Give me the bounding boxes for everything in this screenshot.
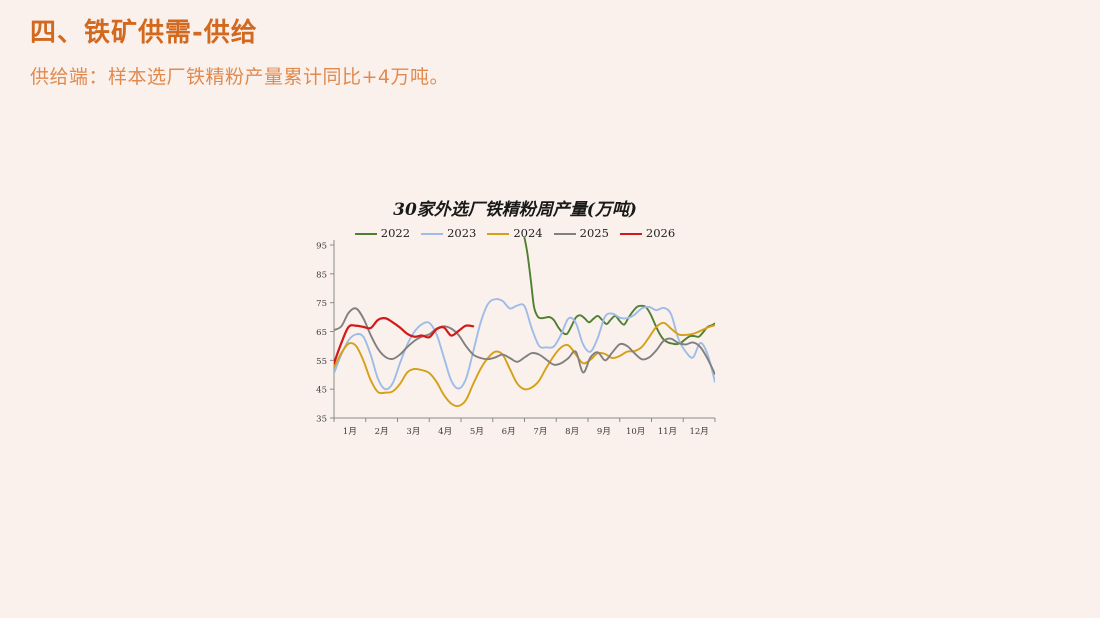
series-line-2026 <box>334 318 473 363</box>
series-line-2025 <box>334 308 715 374</box>
x-tick-label-8: 8月 <box>565 427 579 437</box>
y-tick-label: 85 <box>316 270 327 280</box>
x-tick-label-3: 3月 <box>406 427 420 437</box>
x-tick-label-6: 6月 <box>502 427 516 437</box>
slide-canvas: 四、铁矿供需-供给 供给端：样本选厂铁精粉产量累计同比+4万吨。 30家外选厂铁… <box>0 0 1100 618</box>
page-subtitle: 供给端：样本选厂铁精粉产量累计同比+4万吨。 <box>30 62 449 89</box>
x-tick-label-10: 10月 <box>626 427 645 437</box>
x-tick-label-4: 4月 <box>438 427 452 437</box>
y-tick-label: 45 <box>316 386 327 396</box>
y-tick-label: 55 <box>316 357 327 367</box>
series-line-2023 <box>334 299 715 389</box>
page-title: 四、铁矿供需-供给 <box>30 12 258 49</box>
x-tick-label-1: 1月 <box>343 427 357 437</box>
series-line-2022 <box>525 238 716 344</box>
y-tick-label: 35 <box>316 415 327 425</box>
x-tick-label-12: 12月 <box>689 427 708 437</box>
x-tick-label-9: 9月 <box>597 427 611 437</box>
x-tick-label-11: 11月 <box>658 427 677 437</box>
y-tick-label: 65 <box>316 328 327 338</box>
x-tick-label-7: 7月 <box>533 427 547 437</box>
chart-container: 30家外选厂铁精粉周产量(万吨) 20222023202420252026 35… <box>290 195 740 445</box>
x-tick-label-5: 5月 <box>470 427 484 437</box>
y-tick-label: 75 <box>316 299 327 309</box>
chart-plot: 354555657585951月2月3月4月5月6月7月8月9月10月11月12… <box>290 195 740 445</box>
y-tick-label: 95 <box>316 242 327 252</box>
x-tick-label-2: 2月 <box>375 427 389 437</box>
series-line-2024 <box>334 323 715 406</box>
